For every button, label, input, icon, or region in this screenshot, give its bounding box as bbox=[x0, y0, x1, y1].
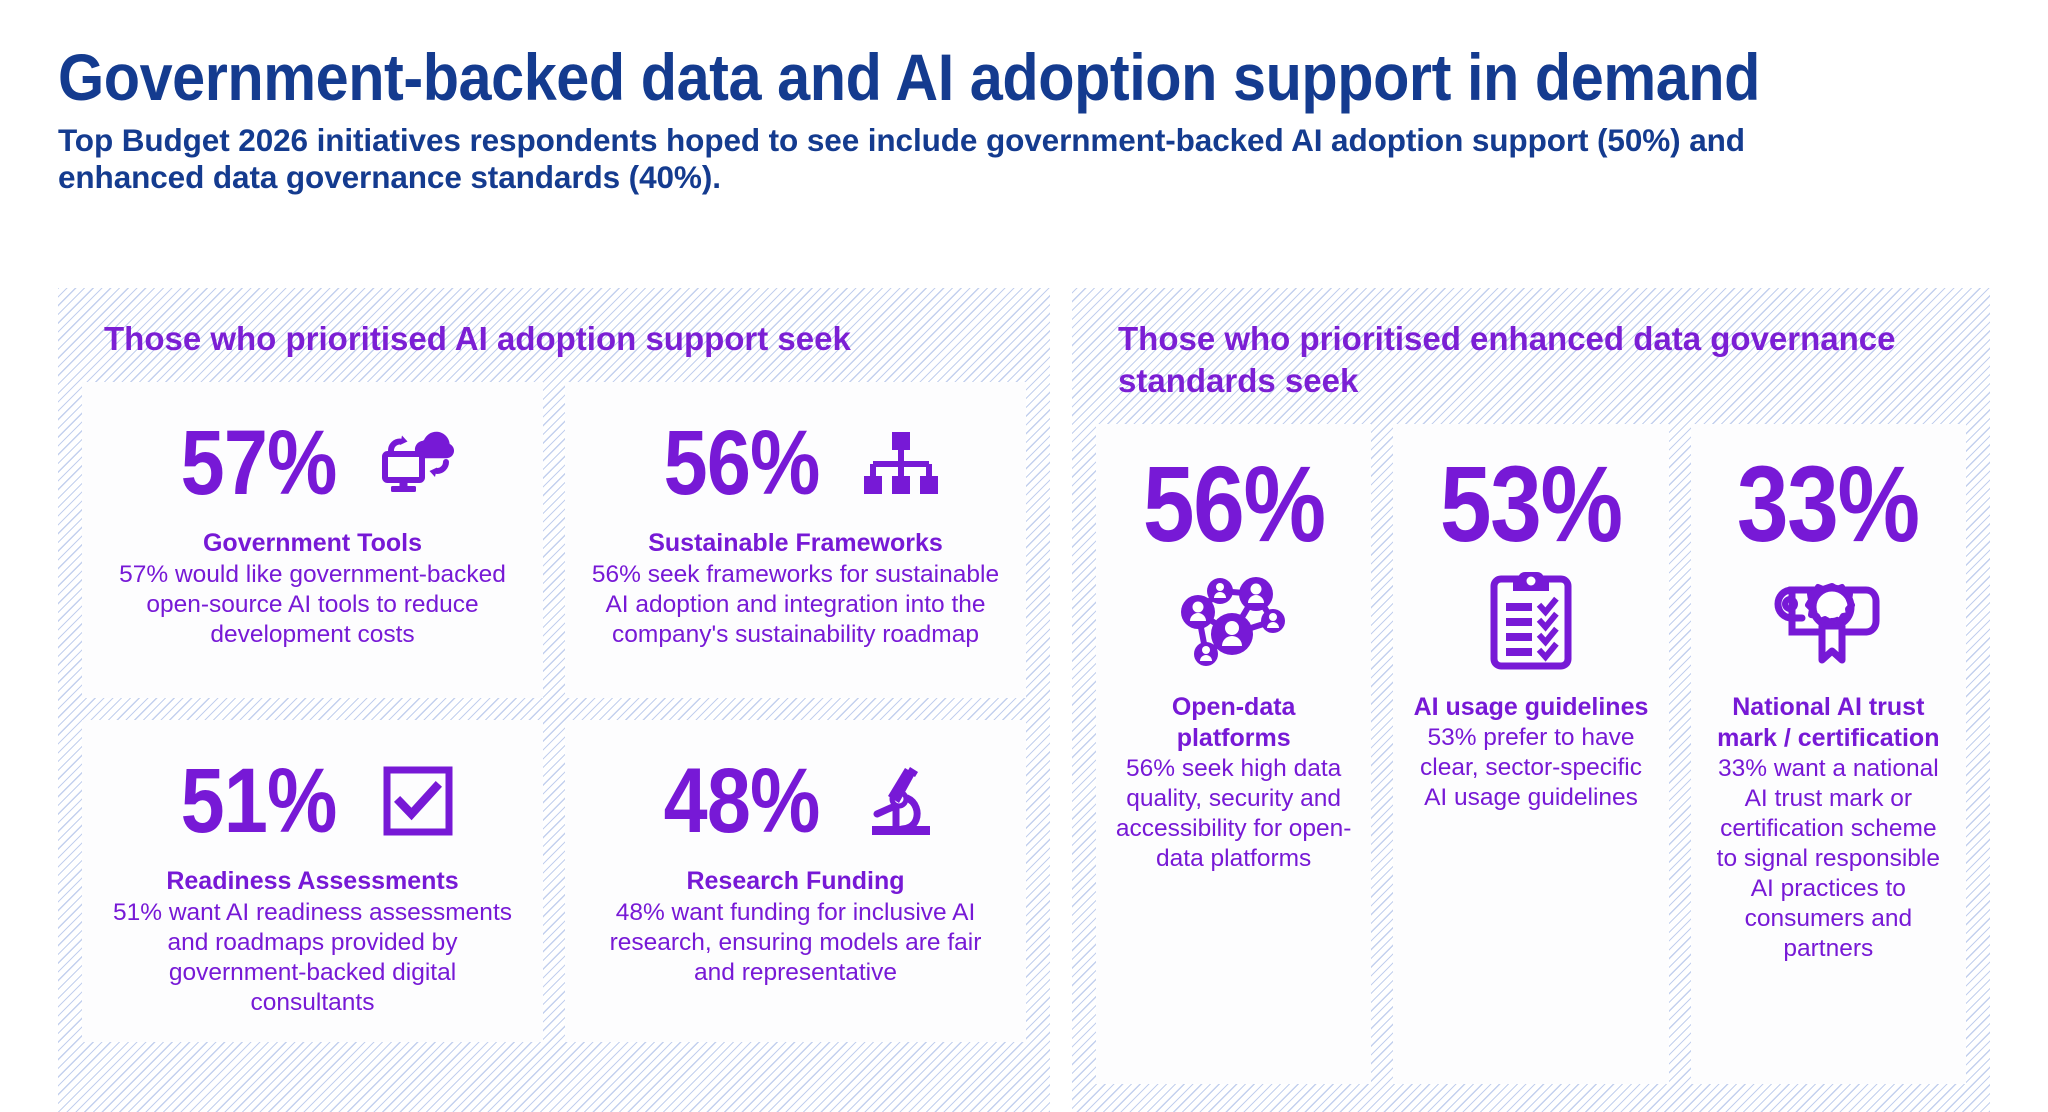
stat-percent: 48% bbox=[664, 755, 820, 847]
stat-card-national-ai-trust-mark[interactable]: 33% bbox=[1691, 424, 1966, 1084]
stat-row: 48% bbox=[651, 742, 940, 860]
stat-card-body: 33% want a national AI trust mark or cer… bbox=[1707, 754, 1950, 964]
certificate-scroll-icon bbox=[1770, 566, 1886, 674]
page-subtitle: Top Budget 2026 initiatives respondents … bbox=[58, 122, 1788, 196]
stat-card-title: AI usage guidelines bbox=[1414, 692, 1649, 723]
stat-percent: 51% bbox=[181, 755, 337, 847]
panels-container: Those who prioritised AI adoption suppor… bbox=[58, 288, 1990, 1112]
right-panel-card-columns: 56% bbox=[1096, 424, 1966, 1084]
page-title: Government-backed data and AI adoption s… bbox=[58, 40, 1849, 114]
stat-card-ai-usage-guidelines[interactable]: 53% bbox=[1393, 424, 1668, 1084]
stat-card-title: Open-data platforms bbox=[1112, 692, 1355, 754]
stat-card-research-funding[interactable]: 48% bbox=[565, 720, 1026, 1042]
hierarchy-chart-icon bbox=[862, 424, 940, 502]
stat-card-title: Government Tools bbox=[203, 528, 422, 558]
stat-card-body: 51% want AI readiness assessments and ro… bbox=[108, 898, 517, 1018]
stat-card-sustainable-frameworks[interactable]: 56% Sustainable Frameworks 5 bbox=[565, 382, 1026, 698]
stat-card-body: 57% would like government-backed open-so… bbox=[108, 560, 517, 650]
checkbox-check-icon bbox=[379, 762, 457, 840]
stat-card-title: Readiness Assessments bbox=[166, 866, 458, 896]
stat-percent: 56% bbox=[664, 417, 820, 509]
stat-card-body: 53% prefer to have clear, sector-specifi… bbox=[1409, 723, 1652, 813]
stat-card-open-data-platforms[interactable]: 56% bbox=[1096, 424, 1371, 1084]
stat-row: 56% bbox=[651, 404, 940, 522]
stat-card-readiness-assessments[interactable]: 51% Readiness Assessments 51% want AI re… bbox=[82, 720, 543, 1042]
stat-card-government-tools[interactable]: 57% bbox=[82, 382, 543, 698]
cloud-sync-monitor-icon bbox=[379, 424, 457, 502]
stat-card-title: Research Funding bbox=[686, 866, 904, 896]
stat-percent: 57% bbox=[181, 417, 337, 509]
panel-data-governance-standards: Those who prioritised enhanced data gove… bbox=[1072, 288, 1990, 1112]
left-panel-card-grid: 57% bbox=[82, 382, 1026, 1042]
stat-percent: 33% bbox=[1737, 448, 1919, 560]
stat-card-body: 56% seek frameworks for sustainable AI a… bbox=[591, 560, 1000, 650]
stat-row: 51% bbox=[168, 742, 457, 860]
stat-card-title: National AI trust mark / certification bbox=[1707, 692, 1950, 754]
stat-percent: 53% bbox=[1440, 448, 1622, 560]
stat-card-body: 56% seek high data quality, security and… bbox=[1112, 754, 1355, 874]
people-network-icon bbox=[1174, 566, 1294, 674]
microscope-icon bbox=[862, 762, 940, 840]
infographic-page: Government-backed data and AI adoption s… bbox=[0, 0, 2048, 1112]
stat-card-title: Sustainable Frameworks bbox=[648, 528, 943, 558]
stat-percent: 56% bbox=[1143, 448, 1325, 560]
stat-card-body: 48% want funding for inclusive AI resear… bbox=[591, 898, 1000, 988]
header: Government-backed data and AI adoption s… bbox=[0, 0, 2048, 196]
stat-row: 57% bbox=[168, 404, 457, 522]
panel-heading-ai-adoption-support: Those who prioritised AI adoption suppor… bbox=[104, 318, 984, 360]
clipboard-checklist-icon bbox=[1489, 566, 1573, 674]
panel-ai-adoption-support: Those who prioritised AI adoption suppor… bbox=[58, 288, 1050, 1112]
panel-heading-data-governance-standards: Those who prioritised enhanced data gove… bbox=[1118, 318, 1948, 402]
